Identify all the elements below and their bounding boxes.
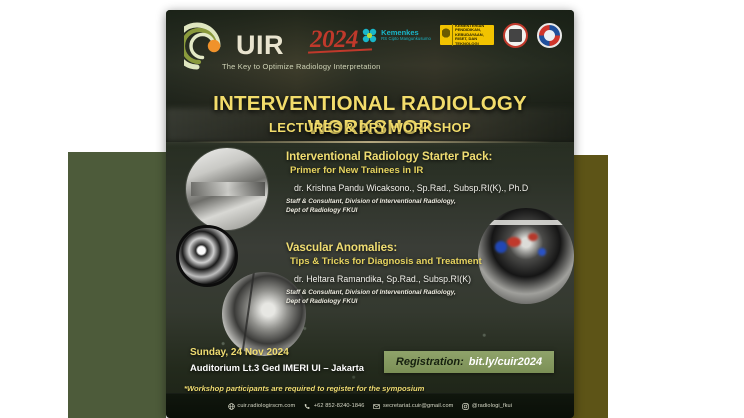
session-block-1: Interventional Radiology Starter Pack: P…: [286, 150, 548, 215]
mail-icon: [373, 403, 380, 410]
event-date: Sunday, 24 Nov 2024: [190, 347, 289, 358]
event-venue: Auditorium Lt.3 Ged IMERI UI – Jakarta: [190, 362, 364, 373]
contact-email[interactable]: secretariat.cuir@gmail.com: [373, 403, 453, 410]
contact-website-text: cuir.radiologirscm.com: [237, 403, 295, 409]
session-1-title: Interventional Radiology Starter Pack:: [286, 150, 548, 163]
mri-axial-scan-photo: [176, 225, 238, 287]
cuir-brand-logo: UIR 2024 The Key to Optimize Radiology I…: [184, 18, 369, 80]
contact-phone-text: +62 852-8240-1846: [314, 403, 365, 409]
event-poster: UIR 2024 The Key to Optimize Radiology I…: [166, 10, 574, 418]
brand-year: 2024: [310, 26, 358, 54]
contact-website[interactable]: cuir.radiologirscm.com: [228, 403, 295, 410]
contact-instagram-text: @radiologi_fkui: [472, 403, 512, 409]
partner-logo-row: Kemenkes RS Cipto Mangunkusumo KEMENTERI…: [361, 22, 562, 48]
brand-tagline: The Key to Optimize Radiology Interpreta…: [222, 62, 380, 71]
registration-note: *Workshop participants are required to r…: [184, 384, 424, 393]
session-2-affiliation-line2: Dept of Radiology FKUI: [286, 297, 548, 306]
contact-email-text: secretariat.cuir@gmail.com: [383, 403, 453, 409]
contact-phone[interactable]: +62 852-8240-1846: [304, 403, 364, 410]
decorative-frame-right: [570, 155, 608, 418]
brand-word: UIR: [236, 30, 284, 61]
session-2-affiliation-line1: Staff & Consultant, Division of Interven…: [286, 288, 548, 297]
session-2-speaker: dr. Heltara Ramandika, Sp.Rad., Subsp.RI…: [286, 274, 548, 284]
phone-icon: [304, 403, 311, 410]
session-1-affiliation-line1: Staff & Consultant, Division of Interven…: [286, 197, 548, 206]
contact-instagram[interactable]: @radiologi_fkui: [462, 403, 512, 410]
header-divider: [188, 141, 552, 143]
instagram-icon: [462, 403, 469, 410]
fkui-logo-icon: [537, 23, 562, 48]
registration-label: Registration:: [396, 356, 464, 368]
kemendikbud-badge: KEMENTERIAN PENDIDIKAN, KEBUDAYAAN, RISE…: [440, 25, 494, 45]
garuda-emblem-icon: [442, 27, 450, 43]
session-1-subtitle: Primer for New Trainees in IR: [286, 165, 548, 176]
angiography-suite-photo: [186, 148, 268, 230]
globe-icon: [228, 403, 235, 410]
decorative-frame-left: [68, 152, 166, 418]
session-1-speaker: dr. Krishna Pandu Wicaksono., Sp.Rad., S…: [286, 183, 548, 193]
kemendikbud-line3: RISET, DAN TEKNOLOGI: [455, 37, 492, 46]
registration-button[interactable]: Registration: bit.ly/cuir2024: [384, 351, 554, 373]
kemenkes-mark-icon: [361, 27, 378, 44]
page-subtitle: LECTURES & DRY WORKSHOP: [166, 120, 574, 135]
registration-link[interactable]: bit.ly/cuir2024: [469, 356, 542, 368]
session-2-subtitle: Tips & Tricks for Diagnosis and Treatmen…: [286, 256, 548, 267]
pdsri-logo-icon: [503, 23, 528, 48]
session-1-affiliation-line2: Dept of Radiology FKUI: [286, 206, 548, 215]
kemenkes-line2: RS Cipto Mangunkusumo: [381, 37, 431, 41]
session-block-2: Vascular Anomalies: Tips & Tricks for Di…: [286, 241, 548, 306]
kemenkes-logo: Kemenkes RS Cipto Mangunkusumo: [361, 27, 431, 44]
session-2-title: Vascular Anomalies:: [286, 241, 548, 254]
contact-footer: cuir.radiologirscm.com +62 852-8240-1846…: [166, 393, 574, 418]
poster-stage: UIR 2024 The Key to Optimize Radiology I…: [0, 0, 744, 418]
